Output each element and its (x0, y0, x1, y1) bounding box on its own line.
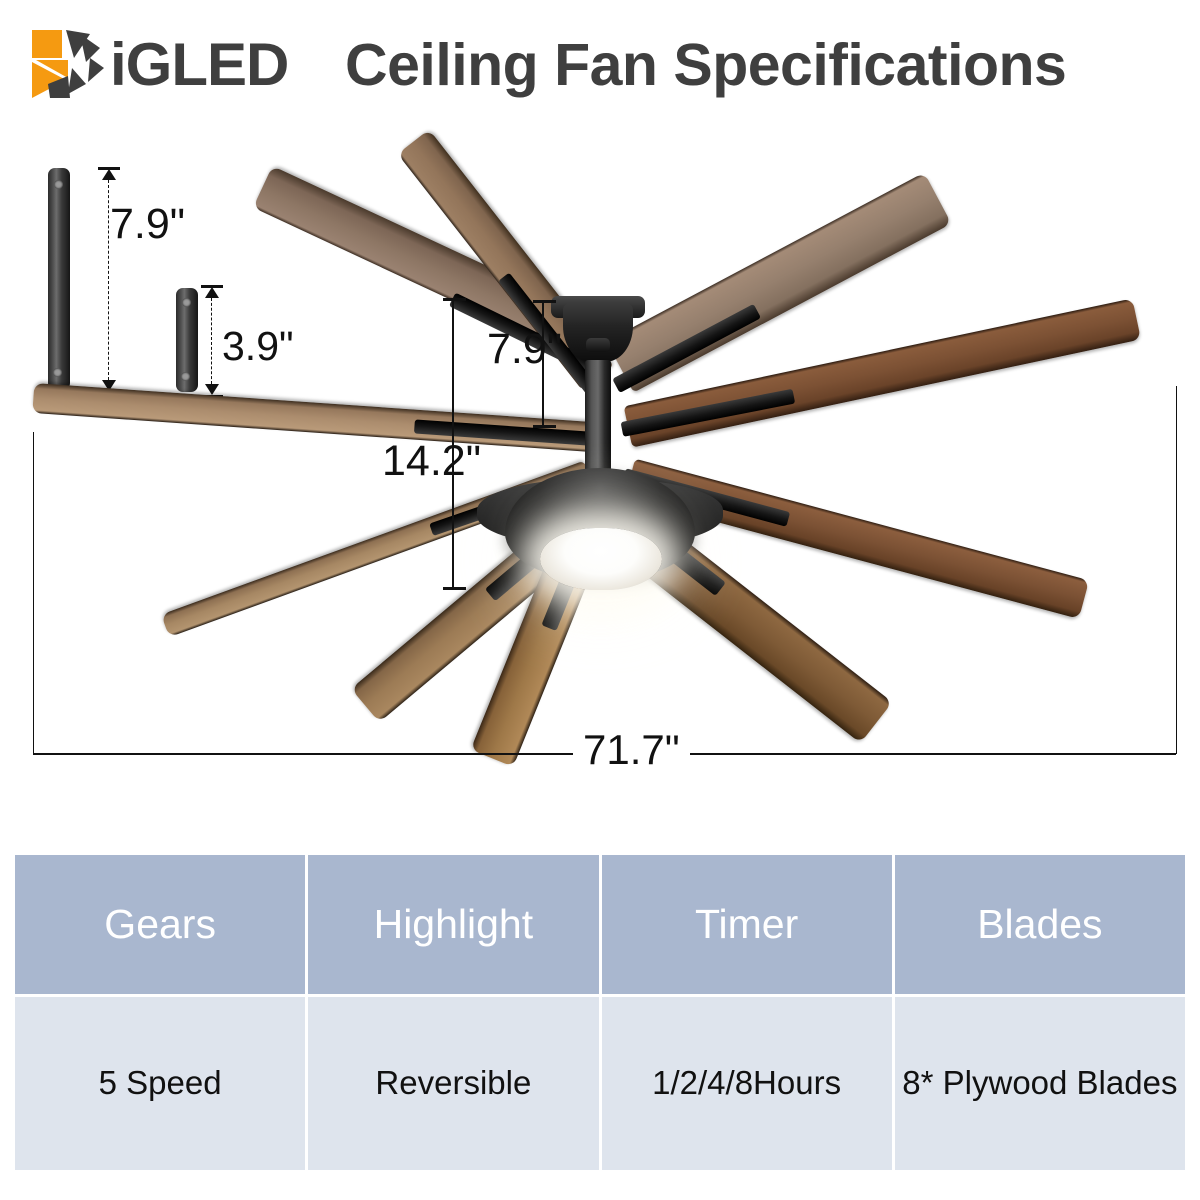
canopy-nut (586, 338, 610, 352)
tick-cap (533, 300, 556, 303)
tick-cap (98, 167, 120, 170)
table-cell-blades: 8* Plywood Blades (895, 997, 1185, 1170)
arrow-up-icon (102, 169, 116, 180)
table-cell-highlight: Reversible (308, 997, 601, 1170)
tick-cap (443, 298, 466, 301)
page-header: iGLED Ceiling Fan Specifications (0, 0, 1200, 130)
extension-line-left (33, 432, 34, 754)
shutter-d-logo-icon (28, 28, 114, 102)
table-row: 5 Speed Reversible 1/2/4/8Hours 8* Plywo… (15, 997, 1185, 1170)
spec-sheet-page: iGLED Ceiling Fan Specifications 7.9" 3.… (0, 0, 1200, 1200)
table-header-row: Gears Highlight Timer Blades (15, 855, 1185, 994)
fan-blade (32, 383, 593, 452)
table-header-highlight: Highlight (308, 855, 601, 994)
table-header-gears: Gears (15, 855, 308, 994)
screw-hole-icon (54, 180, 63, 189)
specifications-table: Gears Highlight Timer Blades 5 Speed Rev… (15, 855, 1185, 1170)
table-cell-gears: 5 Speed (15, 997, 308, 1170)
extension-line-right (1176, 386, 1177, 754)
ceiling-fan-illustration (0, 210, 1200, 680)
brand-logo: iGLED (28, 26, 328, 104)
dimension-label-blade-span: 71.7" (573, 726, 690, 774)
table-header-timer: Timer (602, 855, 895, 994)
page-title: Ceiling Fan Specifications (345, 30, 1066, 100)
ceiling-canopy (563, 302, 633, 362)
tick-cap (533, 425, 556, 428)
table-cell-timer: 1/2/4/8Hours (602, 997, 895, 1170)
table-header-blades: Blades (895, 855, 1185, 994)
brand-name: iGLED (110, 32, 288, 98)
led-light (540, 528, 662, 590)
dimension-label-canopy-height: 7.9" (487, 325, 562, 374)
tick-cap (443, 587, 466, 590)
dimension-label-total-height: 14.2" (382, 437, 481, 486)
installed-downrod (585, 360, 611, 478)
